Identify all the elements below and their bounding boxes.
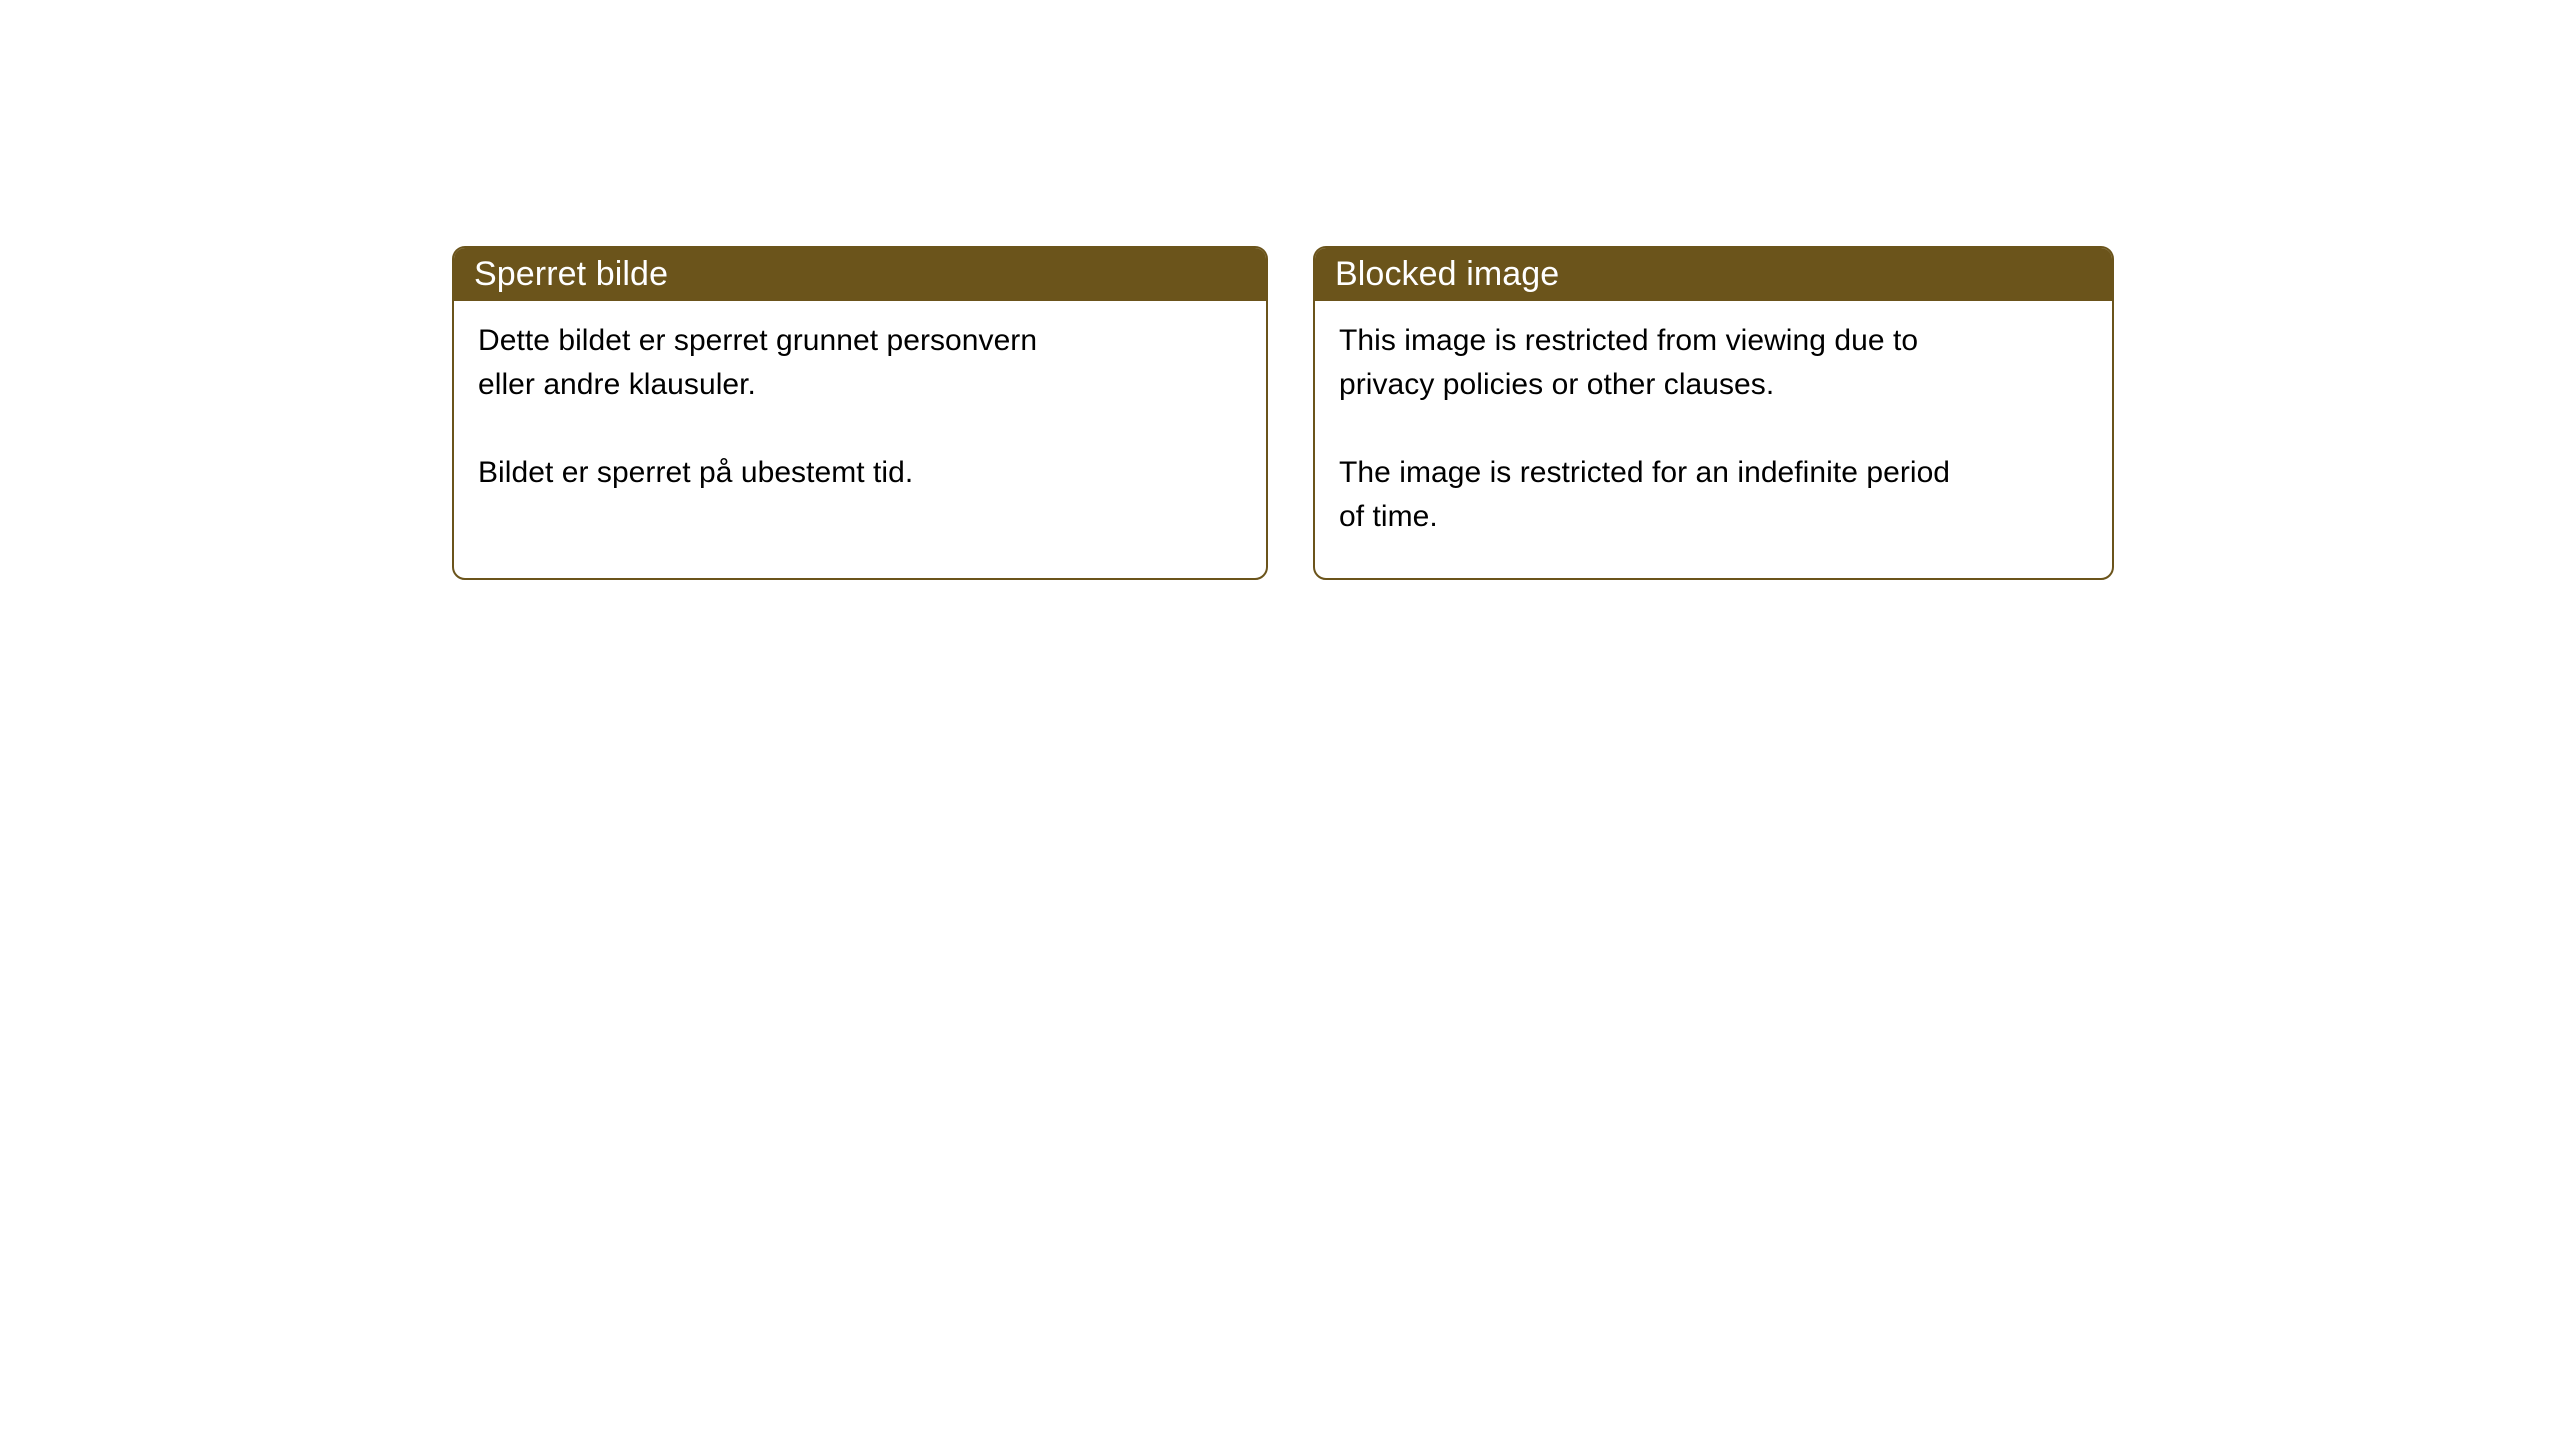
blocked-image-notice-card-no: Sperret bilde Dette bildet er sperret gr… — [452, 246, 1268, 580]
page-canvas: Sperret bilde Dette bildet er sperret gr… — [0, 0, 2560, 1440]
card-paragraph-line: Bildet er sperret på ubestemt tid. — [478, 451, 1242, 495]
card-header-no: Sperret bilde — [452, 246, 1268, 301]
card-paragraph-en-1: This image is restricted from viewing du… — [1339, 319, 2088, 407]
card-body-en: This image is restricted from viewing du… — [1315, 301, 2112, 539]
card-paragraph-line: The image is restricted for an indefinit… — [1339, 451, 2088, 495]
card-paragraph-line: of time. — [1339, 495, 2088, 539]
card-paragraph-line: privacy policies or other clauses. — [1339, 363, 2088, 407]
card-body-no: Dette bildet er sperret grunnet personve… — [454, 301, 1266, 495]
card-paragraph-en-2: The image is restricted for an indefinit… — [1339, 451, 2088, 539]
card-paragraph-line: This image is restricted from viewing du… — [1339, 319, 2088, 363]
card-title-en: Blocked image — [1335, 255, 1559, 293]
card-header-en: Blocked image — [1313, 246, 2114, 301]
card-title-no: Sperret bilde — [474, 255, 668, 293]
card-paragraph-line: eller andre klausuler. — [478, 363, 1242, 407]
card-paragraph-no-2: Bildet er sperret på ubestemt tid. — [478, 451, 1242, 495]
card-paragraph-no-1: Dette bildet er sperret grunnet personve… — [478, 319, 1242, 407]
blocked-image-notice-card-en: Blocked image This image is restricted f… — [1313, 246, 2114, 580]
card-paragraph-line: Dette bildet er sperret grunnet personve… — [478, 319, 1242, 363]
